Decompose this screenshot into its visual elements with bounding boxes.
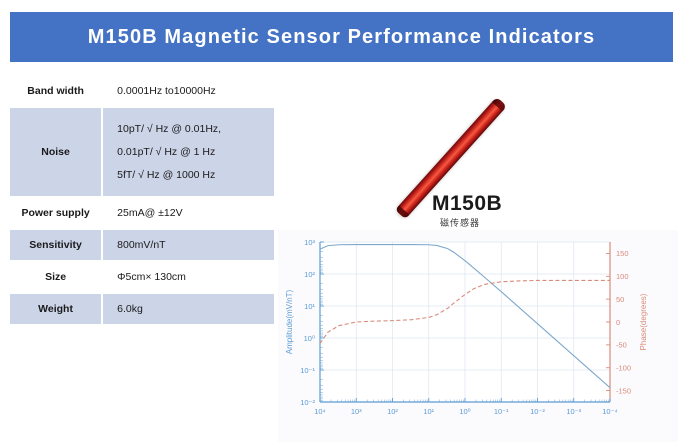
spec-value-cell: 10pT/ √ Hz @ 0.01Hz, 0.01pT/ √ Hz @ 1 Hz… — [103, 108, 274, 196]
y-axis-tick-label: 10⁻² — [300, 398, 315, 407]
y-axis-tick-label: 10¹ — [304, 302, 315, 311]
y2-axis-tick-label: -100 — [616, 364, 631, 373]
x-axis-tick-label: 10⁴ — [314, 407, 326, 416]
spec-label-cell: Band width — [10, 76, 101, 106]
table-row: Weight 6.0kg — [10, 294, 274, 324]
sensor-subtitle-label: 磁传感器 — [440, 216, 480, 229]
y-axis-tick-label: 10⁻¹ — [300, 366, 315, 375]
spec-label: Sensitivity — [10, 230, 101, 260]
y-axis-tick-label: 10² — [304, 270, 315, 279]
x-axis-tick-label: 10⁻⁴ — [602, 407, 618, 416]
y-axis-title: Amplitude(mV/nT) — [285, 289, 294, 354]
spec-value: 6.0kg — [103, 294, 274, 324]
specification-table: Band width 0.0001Hz to10000Hz Noise 10pT… — [8, 74, 276, 326]
y2-axis-tick-label: -150 — [616, 386, 631, 395]
table-row: Noise 10pT/ √ Hz @ 0.01Hz, 0.01pT/ √ Hz … — [10, 108, 274, 196]
sensor-rod-cap-bottom — [395, 205, 409, 219]
noise-line: 0.01pT/ √ Hz @ 1 Hz — [117, 146, 274, 158]
table-row: Sensitivity 800mV/nT — [10, 230, 274, 260]
spec-value: Φ5cm× 130cm — [103, 262, 274, 292]
y2-axis-title: Phase(degrees) — [639, 293, 648, 350]
spec-label: Weight — [10, 294, 101, 324]
page-title-banner: M150B Magnetic Sensor Performance Indica… — [10, 12, 673, 62]
spec-value-cell: 6.0kg — [103, 294, 274, 324]
spec-label-cell: Noise — [10, 108, 101, 196]
sensor-model-label: M150B — [432, 192, 502, 216]
y-axis-tick-label: 10³ — [304, 238, 315, 247]
spec-label: Noise — [10, 108, 101, 196]
spec-value: 25mA@ ±12V — [103, 198, 274, 228]
spec-value-cell: 800mV/nT — [103, 230, 274, 260]
spec-label: Band width — [10, 76, 101, 106]
noise-line: 5fT/ √ Hz @ 1000 Hz — [117, 169, 274, 181]
noise-line: 10pT/ √ Hz @ 0.01Hz, — [117, 123, 274, 135]
y2-axis-tick-label: 50 — [616, 295, 624, 304]
spec-value: 0.0001Hz to10000Hz — [103, 76, 274, 106]
spec-value-cell: Φ5cm× 130cm — [103, 262, 274, 292]
spec-table-body: Band width 0.0001Hz to10000Hz Noise 10pT… — [10, 76, 274, 324]
sensor-rod-cap-top — [492, 97, 507, 112]
x-axis-tick-label: 10⁻³ — [566, 407, 581, 416]
y-axis-tick-label: 10⁰ — [304, 334, 315, 343]
table-row: Power supply 25mA@ ±12V — [10, 198, 274, 228]
sensor-photo: M150B 磁传感器 — [352, 74, 678, 234]
y2-axis-tick-label: 100 — [616, 272, 629, 281]
spec-label: Power supply — [10, 198, 101, 228]
x-axis-tick-label: 10⁻¹ — [494, 407, 509, 416]
table-row: Band width 0.0001Hz to10000Hz — [10, 76, 274, 106]
y2-axis-tick-label: -50 — [616, 341, 627, 350]
noise-line-list: 10pT/ √ Hz @ 0.01Hz, 0.01pT/ √ Hz @ 1 Hz… — [103, 123, 274, 181]
spec-value-multiline: 10pT/ √ Hz @ 0.01Hz, 0.01pT/ √ Hz @ 1 Hz… — [103, 108, 274, 196]
slide-root: M150B Magnetic Sensor Performance Indica… — [0, 0, 683, 447]
spec-label-cell: Weight — [10, 294, 101, 324]
table-row: Size Φ5cm× 130cm — [10, 262, 274, 292]
spec-label-cell: Sensitivity — [10, 230, 101, 260]
spec-label-cell: Power supply — [10, 198, 101, 228]
spec-label: Size — [10, 262, 101, 292]
y2-axis-tick-label: 150 — [616, 249, 629, 258]
x-axis-tick-label: 10³ — [351, 407, 362, 416]
spec-value: 800mV/nT — [103, 230, 274, 260]
x-axis-tick-label: 10² — [387, 407, 398, 416]
page-title: M150B Magnetic Sensor Performance Indica… — [88, 26, 595, 49]
spec-value-cell: 25mA@ ±12V — [103, 198, 274, 228]
x-axis-tick-label: 10¹ — [423, 407, 434, 416]
spec-label-cell: Size — [10, 262, 101, 292]
x-axis-tick-label: 10⁻² — [530, 407, 545, 416]
x-axis-tick-label: 10⁰ — [459, 407, 470, 416]
bode-plot-panel: 10⁴10³10²10¹10⁰10⁻¹10⁻²10⁻³10⁻⁴10³10²10¹… — [278, 230, 678, 442]
bode-plot-svg: 10⁴10³10²10¹10⁰10⁻¹10⁻²10⁻³10⁻⁴10³10²10¹… — [278, 230, 678, 442]
spec-value-cell: 0.0001Hz to10000Hz — [103, 76, 274, 106]
y2-axis-tick-label: 0 — [616, 318, 620, 327]
